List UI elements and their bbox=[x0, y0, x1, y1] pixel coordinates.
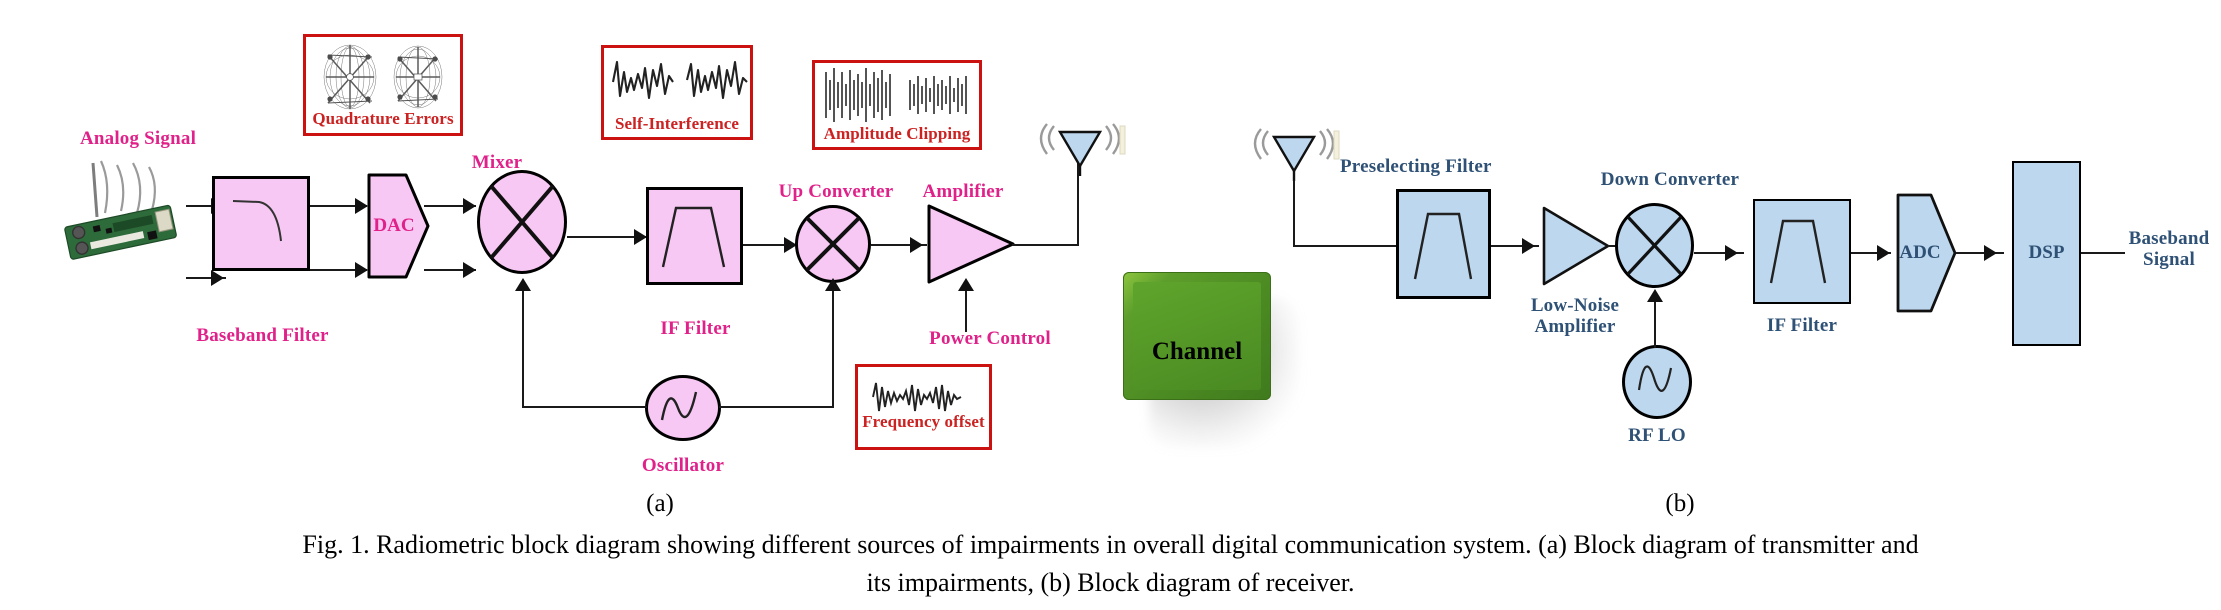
line-power-control bbox=[965, 290, 967, 332]
line-osc-left bbox=[522, 406, 647, 408]
figure-caption-line1: Fig. 1. Radiometric block diagram showin… bbox=[0, 528, 2221, 562]
label-mixer: Mixer bbox=[437, 152, 557, 173]
label-channel: Channel bbox=[1123, 338, 1271, 366]
figure-canvas: Quadrature Errors Self-Interference Ampl… bbox=[0, 0, 2221, 610]
arrow-iffilter-adc bbox=[1877, 245, 1890, 261]
tx-antenna-icon bbox=[1032, 124, 1128, 184]
impairment-box-amplitude-clipping: Amplitude Clipping bbox=[812, 60, 982, 150]
channel-block[interactable]: Channel bbox=[1123, 272, 1303, 432]
mixer-cross-icon bbox=[798, 208, 868, 280]
block-low-noise-amplifier[interactable] bbox=[1540, 204, 1612, 288]
label-dac: DAC bbox=[366, 215, 422, 237]
label-baseband-filter: Baseband Filter bbox=[180, 325, 345, 346]
line-rx-antenna-down bbox=[1293, 180, 1295, 246]
label-down-converter: Down Converter bbox=[1570, 169, 1770, 190]
subcaption-a: (a) bbox=[620, 490, 700, 518]
label-baseband-signal: Baseband Signal bbox=[2118, 228, 2220, 271]
line-osc-to-upconv bbox=[832, 290, 834, 408]
arrow-dac-mixer-bottom bbox=[463, 262, 476, 278]
bandpass-trapezoid-icon bbox=[649, 190, 740, 282]
mixer-cross-icon bbox=[480, 173, 564, 271]
impairment-label-frequency-offset: Frequency offset bbox=[858, 412, 989, 431]
arrow-osc-to-upconv bbox=[825, 278, 841, 291]
bandpass-trapezoid-icon bbox=[1399, 192, 1488, 296]
label-power-control: Power Control bbox=[900, 328, 1080, 349]
arrow-adc-dsp bbox=[1984, 245, 1997, 261]
impairment-box-quadrature-errors: Quadrature Errors bbox=[303, 34, 463, 136]
label-oscillator: Oscillator bbox=[613, 455, 753, 476]
label-dsp: DSP bbox=[2012, 242, 2081, 264]
block-if-filter-tx[interactable] bbox=[646, 187, 743, 285]
block-up-converter[interactable] bbox=[795, 205, 871, 283]
label-rf-lo: RF LO bbox=[1607, 425, 1707, 446]
label-preselecting-filter: Preselecting Filter bbox=[1340, 156, 1552, 177]
impairment-label-self-interference: Self-Interference bbox=[604, 114, 750, 133]
rx-antenna-icon bbox=[1248, 127, 1344, 187]
label-low-noise-amplifier: Low-Noise Amplifier bbox=[1505, 295, 1645, 338]
block-oscillator[interactable] bbox=[645, 375, 721, 441]
bandpass-trapezoid-icon bbox=[1755, 201, 1847, 300]
label-if-filter-rx: IF Filter bbox=[1742, 315, 1862, 336]
lowpass-curve-icon bbox=[215, 179, 307, 268]
sdr-board-antenna-icon bbox=[55, 155, 205, 265]
mixer-cross-icon bbox=[1618, 206, 1691, 285]
channel-slab bbox=[1123, 272, 1271, 400]
label-up-converter: Up Converter bbox=[756, 181, 916, 202]
label-analog-signal: Analog Signal bbox=[48, 128, 228, 149]
sine-wave-icon bbox=[1625, 348, 1689, 416]
impairment-label-quadrature-errors: Quadrature Errors bbox=[306, 109, 460, 128]
arrow-osc-to-mixer bbox=[515, 278, 531, 291]
impairment-label-amplitude-clipping: Amplitude Clipping bbox=[815, 124, 979, 143]
figure-caption-line2: its impairments, (b) Block diagram of re… bbox=[0, 566, 2221, 600]
line-osc-to-mixer bbox=[522, 290, 524, 408]
arrow-tx-input-bottom bbox=[211, 270, 224, 286]
block-baseband-filter[interactable] bbox=[212, 176, 310, 271]
line-osc-right bbox=[719, 406, 834, 408]
arrow-preselect-lna bbox=[1522, 238, 1535, 254]
arrow-upconv-amp bbox=[910, 237, 923, 253]
arrow-rflo-to-downconv bbox=[1647, 289, 1663, 302]
arrow-power-control bbox=[958, 278, 974, 291]
block-preselecting-filter[interactable] bbox=[1396, 189, 1491, 299]
label-adc: ADC bbox=[1893, 242, 1947, 264]
line-rflo-to-downconv bbox=[1654, 300, 1656, 348]
block-rf-lo[interactable] bbox=[1622, 345, 1692, 419]
impairment-box-frequency-offset: Frequency offset bbox=[855, 364, 992, 450]
line-amp-to-antenna bbox=[1012, 244, 1079, 246]
block-if-filter-rx[interactable] bbox=[1753, 199, 1851, 304]
arrow-downconv-iffilter bbox=[1725, 245, 1738, 261]
block-mixer[interactable] bbox=[477, 170, 567, 274]
block-amplifier[interactable] bbox=[925, 202, 1017, 286]
subcaption-b: (b) bbox=[1640, 490, 1720, 518]
noisy-waveform-pair-icon bbox=[607, 52, 753, 114]
constellation-scatter-pair-icon bbox=[308, 41, 462, 111]
sine-wave-icon bbox=[648, 378, 718, 438]
block-down-converter[interactable] bbox=[1615, 203, 1694, 288]
label-amplifier: Amplifier bbox=[898, 181, 1028, 202]
impairment-box-self-interference: Self-Interference bbox=[601, 45, 753, 140]
line-rx-antenna-to-preselect bbox=[1293, 245, 1398, 247]
clipped-waveform-pair-icon bbox=[818, 66, 982, 124]
arrow-dac-mixer-top bbox=[463, 198, 476, 214]
label-if-filter-tx: IF Filter bbox=[638, 318, 753, 339]
